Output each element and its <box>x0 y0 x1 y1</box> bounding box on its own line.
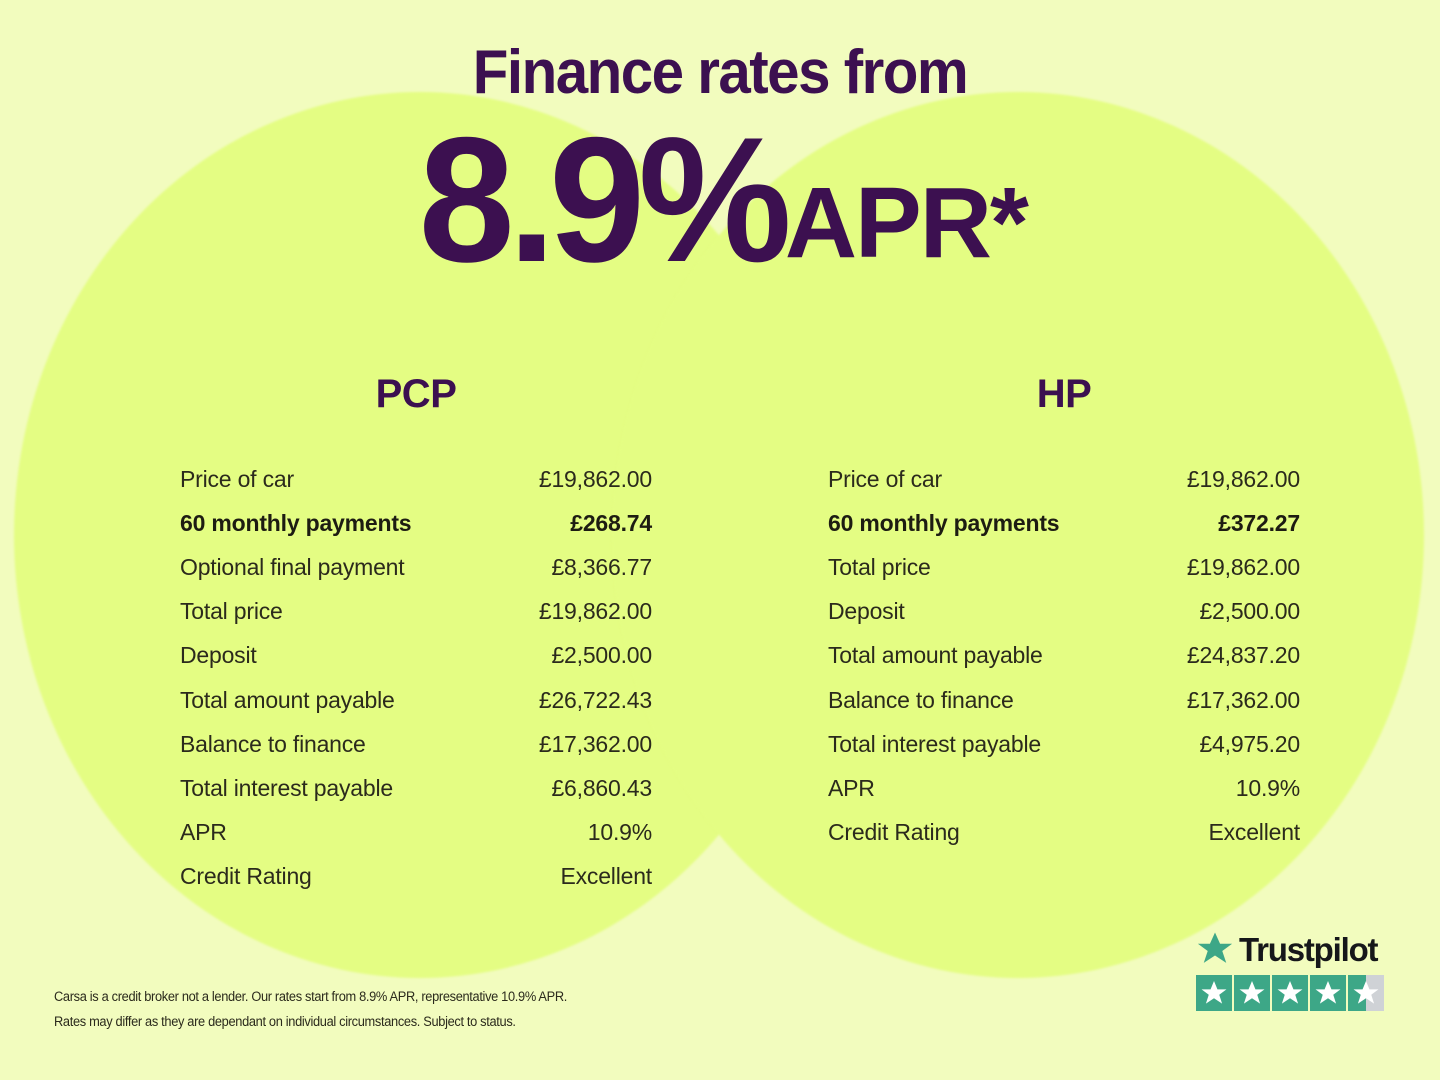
finance-row-label: 60 monthly payments <box>828 512 1059 535</box>
finance-row: APR10.9% <box>828 766 1300 810</box>
finance-row: Credit RatingExcellent <box>828 811 1300 855</box>
finance-row: Total interest payable£4,975.20 <box>828 722 1300 766</box>
finance-row-label: Total price <box>180 600 283 623</box>
trustpilot-star-icon <box>1234 975 1270 1011</box>
rate-number: 8.9% <box>419 118 785 282</box>
finance-row-label: APR <box>828 777 875 800</box>
trustpilot-star-icon <box>1196 975 1232 1011</box>
finance-row-label: Credit Rating <box>828 821 960 844</box>
finance-row-label: Total amount payable <box>180 689 395 712</box>
finance-row-value: £19,862.00 <box>1187 556 1300 579</box>
finance-row: 60 monthly payments£372.27 <box>828 501 1300 545</box>
trustpilot-star-icon <box>1310 975 1346 1011</box>
finance-row-label: Total price <box>828 556 931 579</box>
finance-row: Optional final payment£8,366.77 <box>180 545 652 589</box>
finance-rows-pcp: Price of car£19,862.0060 monthly payment… <box>180 457 652 899</box>
finance-row-value: £19,862.00 <box>539 468 652 491</box>
finance-row-value: £2,500.00 <box>551 644 652 667</box>
finance-row-label: Credit Rating <box>180 865 312 888</box>
headline: Finance rates from 8.9% APR* <box>0 0 1440 282</box>
finance-row: 60 monthly payments£268.74 <box>180 501 652 545</box>
finance-row-value: £2,500.00 <box>1199 600 1300 623</box>
finance-row: Total interest payable£6,860.43 <box>180 766 652 810</box>
finance-row: Total price£19,862.00 <box>180 590 652 634</box>
finance-row: Total amount payable£24,837.20 <box>828 634 1300 678</box>
trustpilot-star-icon <box>1272 975 1308 1011</box>
finance-row-value: Excellent <box>560 865 652 888</box>
trustpilot-star-rating <box>1196 975 1392 1011</box>
disclaimer-line-1: Carsa is a credit broker not a lender. O… <box>54 985 776 1010</box>
trustpilot-star-icon <box>1348 975 1384 1011</box>
finance-row-value: Excellent <box>1208 821 1300 844</box>
finance-row-label: Deposit <box>180 644 257 667</box>
finance-row-label: Price of car <box>180 468 294 491</box>
finance-row-value: £372.27 <box>1218 512 1300 535</box>
finance-row: Balance to finance£17,362.00 <box>180 722 652 766</box>
finance-row-value: £17,362.00 <box>539 733 652 756</box>
disclaimer-text: Carsa is a credit broker not a lender. O… <box>54 985 776 1035</box>
trustpilot-logo: Trustpilot <box>1196 930 1392 968</box>
column-title-hp: HP <box>828 372 1300 417</box>
finance-row-value: £19,862.00 <box>1187 468 1300 491</box>
finance-row-label: Balance to finance <box>180 733 366 756</box>
finance-row-label: Balance to finance <box>828 689 1014 712</box>
finance-row-label: Total interest payable <box>180 777 393 800</box>
finance-row-label: Total amount payable <box>828 644 1043 667</box>
finance-row: Price of car£19,862.00 <box>180 457 652 501</box>
finance-row-label: Optional final payment <box>180 556 404 579</box>
finance-row: APR10.9% <box>180 811 652 855</box>
finance-rates-graphic: Finance rates from 8.9% APR* PCP Price o… <box>0 0 1440 1080</box>
finance-row-value: 10.9% <box>1236 777 1300 800</box>
finance-column-hp: HP Price of car£19,862.0060 monthly paym… <box>828 372 1300 855</box>
finance-row: Deposit£2,500.00 <box>180 634 652 678</box>
finance-row-value: £268.74 <box>570 512 652 535</box>
trustpilot-star-icon <box>1196 930 1234 968</box>
finance-rows-hp: Price of car£19,862.0060 monthly payment… <box>828 457 1300 855</box>
finance-row: Balance to finance£17,362.00 <box>828 678 1300 722</box>
finance-row-value: £19,862.00 <box>539 600 652 623</box>
finance-row-value: £24,837.20 <box>1187 644 1300 667</box>
headline-rate: 8.9% APR* <box>0 118 1440 282</box>
column-title-pcp: PCP <box>180 372 652 417</box>
finance-row: Total price£19,862.00 <box>828 545 1300 589</box>
finance-row: Deposit£2,500.00 <box>828 590 1300 634</box>
page-title: Finance rates from <box>43 0 1397 104</box>
trustpilot-badge[interactable]: Trustpilot <box>1196 930 1392 1011</box>
finance-row-label: APR <box>180 821 227 844</box>
rate-suffix: APR* <box>785 177 1027 269</box>
finance-row-value: £17,362.00 <box>1187 689 1300 712</box>
finance-row-value: £6,860.43 <box>551 777 652 800</box>
finance-row: Total amount payable£26,722.43 <box>180 678 652 722</box>
finance-row-label: Price of car <box>828 468 942 491</box>
finance-row-value: £26,722.43 <box>539 689 652 712</box>
finance-row-value: £4,975.20 <box>1199 733 1300 756</box>
finance-row-label: Total interest payable <box>828 733 1041 756</box>
finance-row-label: Deposit <box>828 600 905 623</box>
finance-row-label: 60 monthly payments <box>180 512 411 535</box>
finance-row-value: 10.9% <box>588 821 652 844</box>
trustpilot-wordmark: Trustpilot <box>1239 933 1377 966</box>
finance-row-value: £8,366.77 <box>551 556 652 579</box>
finance-column-pcp: PCP Price of car£19,862.0060 monthly pay… <box>180 372 652 899</box>
finance-row: Price of car£19,862.00 <box>828 457 1300 501</box>
finance-row: Credit RatingExcellent <box>180 855 652 899</box>
disclaimer-line-2: Rates may differ as they are dependant o… <box>54 1010 776 1035</box>
